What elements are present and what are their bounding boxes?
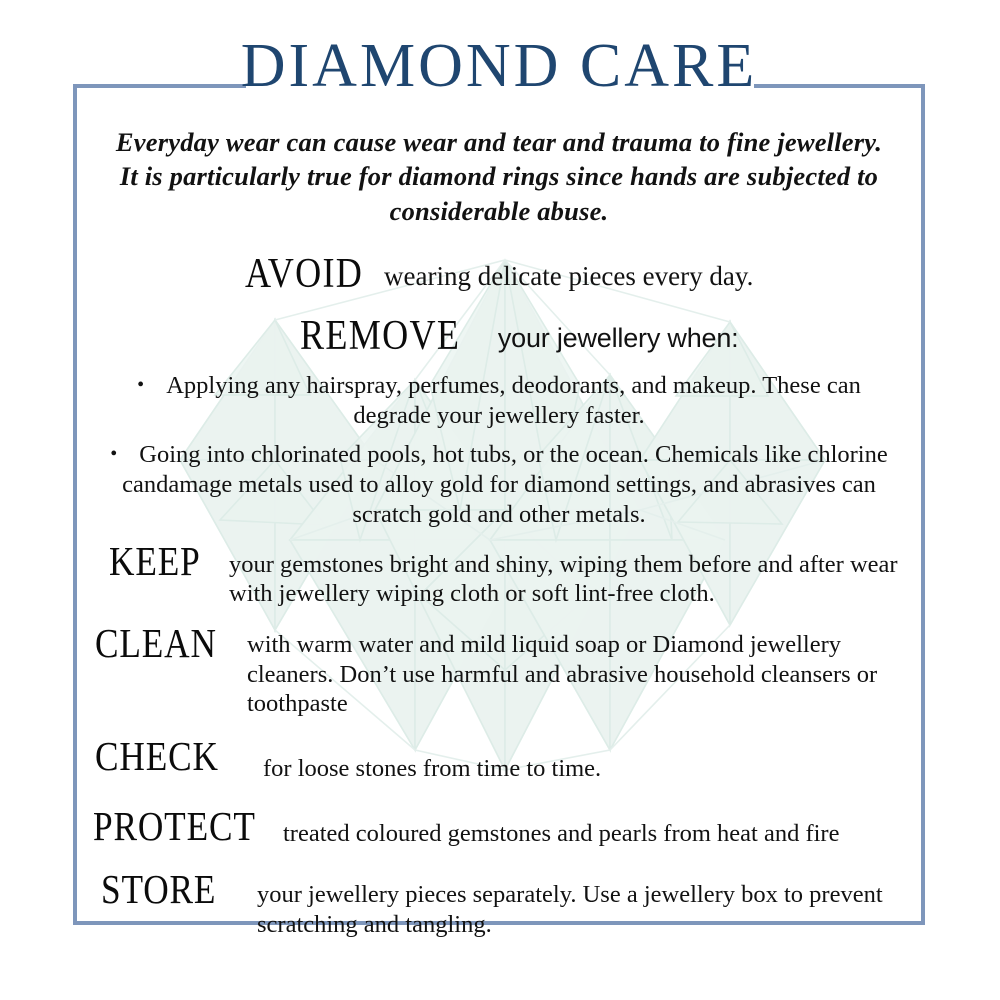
bullet-text: Going into chlorinated pools, hot tubs, … bbox=[122, 441, 888, 528]
page-title: DIAMOND CARE bbox=[73, 35, 925, 97]
diamond-care-poster: DIAMOND CARE Everyday wear can cause wea… bbox=[0, 0, 1000, 1000]
tip-text-store: your jewellery pieces separately. Use a … bbox=[257, 874, 911, 939]
avoid-term: AVOID bbox=[245, 250, 363, 298]
tip-text-keep: your gemstones bright and shiny, wiping … bbox=[229, 546, 911, 609]
remove-term: REMOVE bbox=[300, 312, 460, 360]
tip-text-clean: with warm water and mild liquid soap or … bbox=[247, 628, 911, 718]
tip-row-store: STORE your jewellery pieces separately. … bbox=[87, 874, 911, 939]
remove-row: REMOVEyour jewellery when: bbox=[87, 312, 911, 360]
poster-content: DIAMOND CARE Everyday wear can cause wea… bbox=[73, 84, 925, 925]
remove-text: your jewellery when: bbox=[498, 323, 739, 353]
tip-term-store: STORE bbox=[101, 870, 235, 909]
tip-row-check: CHECK for loose stones from time to time… bbox=[87, 741, 911, 783]
tip-text-check: for loose stones from time to time. bbox=[263, 741, 911, 783]
tip-row-clean: CLEAN with warm water and mild liquid so… bbox=[87, 628, 911, 718]
tip-term-keep: KEEP bbox=[109, 542, 212, 581]
intro-paragraph: Everyday wear can cause wear and tear an… bbox=[111, 125, 887, 228]
tip-term-check: CHECK bbox=[95, 737, 239, 776]
avoid-text: wearing delicate pieces every day. bbox=[384, 261, 753, 291]
bullet-text: Applying any hairspray, perfumes, deodor… bbox=[166, 372, 861, 429]
tip-term-clean: CLEAN bbox=[95, 624, 226, 663]
remove-bullet-list: •Applying any hairspray, perfumes, deodo… bbox=[87, 371, 911, 529]
bullet-marker: • bbox=[110, 443, 139, 465]
tip-row-keep: KEEP your gemstones bright and shiny, wi… bbox=[87, 546, 911, 609]
bullet-marker: • bbox=[137, 374, 166, 396]
avoid-row: AVOIDwearing delicate pieces every day. bbox=[87, 250, 911, 298]
tip-text-protect: treated coloured gemstones and pearls fr… bbox=[283, 811, 911, 848]
list-item: •Going into chlorinated pools, hot tubs,… bbox=[93, 440, 905, 530]
tip-row-protect: PROTECT treated coloured gemstones and p… bbox=[87, 811, 911, 848]
list-item: •Applying any hairspray, perfumes, deodo… bbox=[111, 371, 887, 431]
tip-term-protect: PROTECT bbox=[93, 807, 256, 846]
